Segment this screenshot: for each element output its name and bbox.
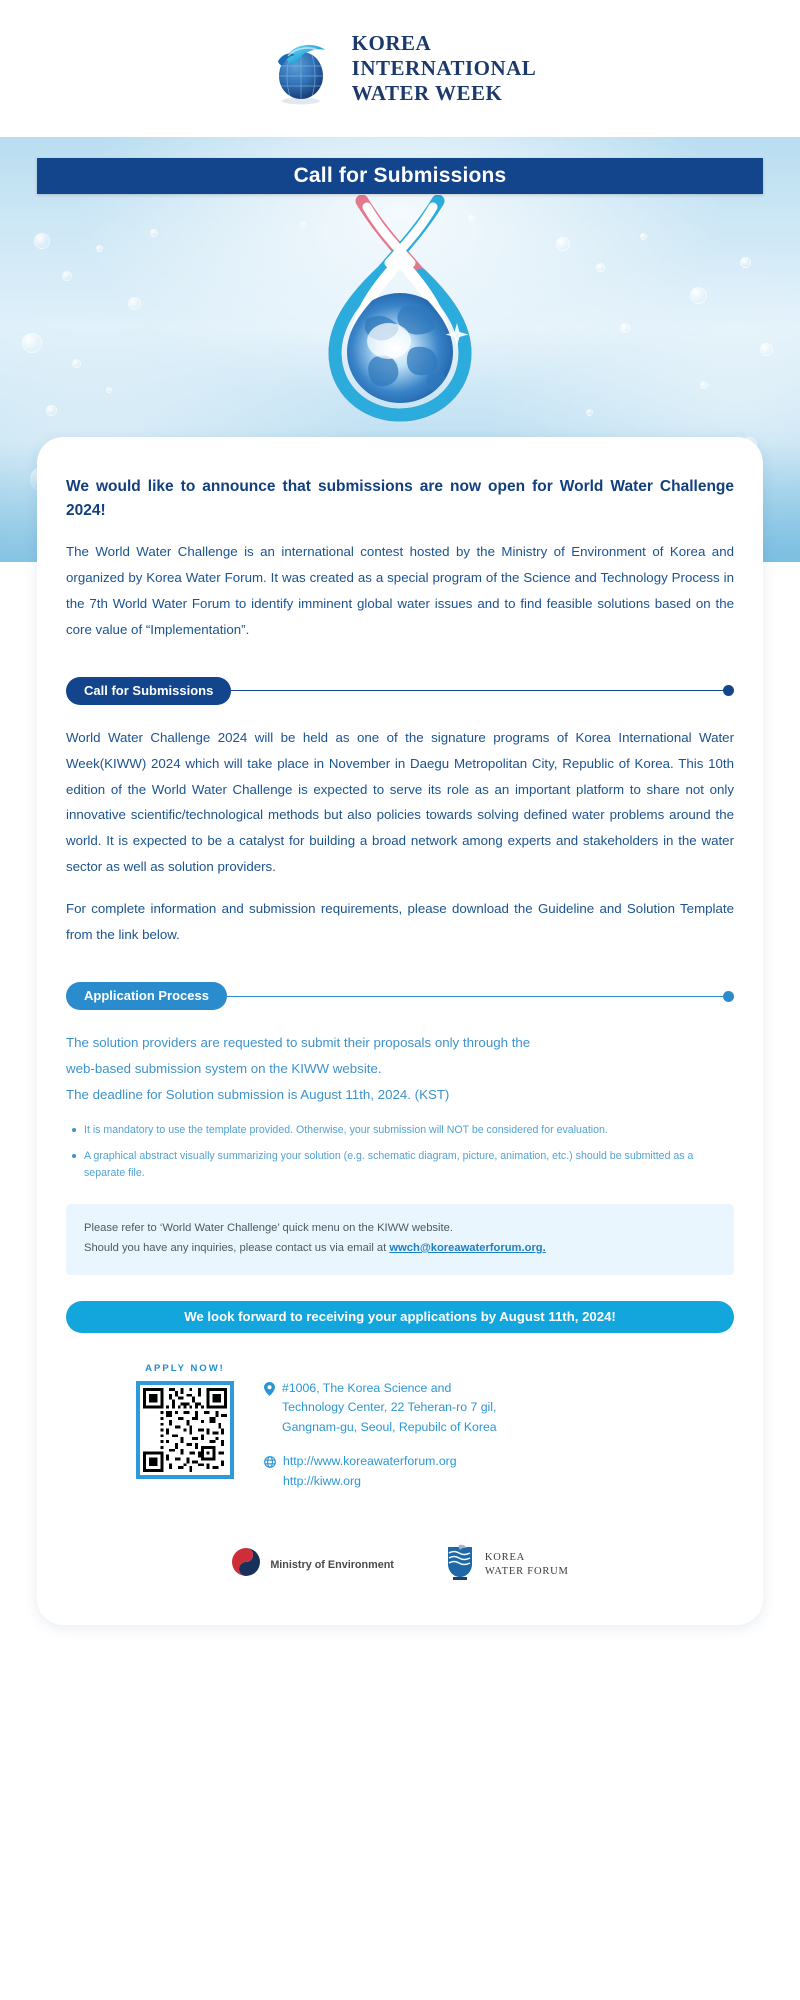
address-column: #1006, The Korea Science and Technology … xyxy=(264,1363,734,1507)
wordmark-line-2: INTERNATIONAL xyxy=(352,56,537,81)
address-line-1: #1006, The Korea Science and xyxy=(282,1379,497,1399)
map-pin-icon xyxy=(264,1379,275,1439)
contact-section: APPLY NOW! xyxy=(66,1363,734,1507)
korea-water-forum-icon xyxy=(444,1544,476,1585)
address-row: #1006, The Korea Science and Technology … xyxy=(264,1379,734,1439)
section-label-call-for-submissions: Call for Submissions xyxy=(66,677,231,705)
site-header: KOREA INTERNATIONAL WATER WEEK xyxy=(0,0,800,137)
process-line-3: The deadline for Solution submission is … xyxy=(66,1082,734,1108)
cta-banner: We look forward to receiving your applic… xyxy=(66,1301,734,1333)
list-item: It is mandatory to use the template prov… xyxy=(70,1122,734,1139)
wordmark-line-3: WATER WEEK xyxy=(352,81,537,106)
water-drop-ribbon-logo-icon xyxy=(305,195,495,430)
wordmark-line-1: KOREA xyxy=(352,31,537,56)
address-line-3: Gangnam-gu, Seoul, Repubilc of Korea xyxy=(282,1418,497,1438)
content-card: We would like to announce that submissio… xyxy=(37,437,763,1625)
apply-now-label: APPLY NOW! xyxy=(136,1363,234,1374)
intro-paragraph: The World Water Challenge is an internat… xyxy=(66,539,734,643)
notes-list: It is mandatory to use the template prov… xyxy=(70,1122,734,1182)
info-box: Please refer to ‘World Water Challenge’ … xyxy=(66,1204,734,1274)
korea-water-forum-logo: KOREA WATER FORUM xyxy=(444,1544,569,1585)
website-link-2[interactable]: http://kiww.org xyxy=(283,1472,457,1492)
call-for-submissions-banner: Call for Submissions xyxy=(37,158,763,194)
korea-water-forum-wordmark: KOREA WATER FORUM xyxy=(485,1551,569,1577)
ministry-of-environment-label: Ministry of Environment xyxy=(270,1559,394,1571)
website-link-1[interactable]: http://www.koreawaterforum.org xyxy=(283,1452,457,1472)
korea-taegeuk-icon xyxy=(231,1547,261,1582)
kwf-line-1: KOREA xyxy=(485,1551,569,1564)
qr-column: APPLY NOW! xyxy=(136,1363,234,1507)
cta-label: We look forward to receiving your applic… xyxy=(184,1309,616,1324)
process-line-2: web-based submission system on the KIWW … xyxy=(66,1056,734,1082)
footer-logos: Ministry of Environment xyxy=(66,1544,734,1591)
section-header-call-for-submissions: Call for Submissions xyxy=(66,677,734,705)
section-header-application-process: Application Process xyxy=(66,982,734,1010)
section-rule xyxy=(231,690,723,691)
list-item: A graphical abstract visually summarizin… xyxy=(70,1148,734,1182)
application-process-text: The solution providers are requested to … xyxy=(66,1030,734,1108)
banner-label: Call for Submissions xyxy=(294,164,507,188)
qr-code-frame[interactable] xyxy=(136,1381,234,1479)
website-text: http://www.koreawaterforum.org http://ki… xyxy=(283,1452,457,1492)
lead-heading: We would like to announce that submissio… xyxy=(66,475,734,523)
poster-page: KOREA INTERNATIONAL WATER WEEK xyxy=(0,0,800,2000)
info-line-1: Please refer to ‘World Water Challenge’ … xyxy=(84,1219,716,1239)
process-line-1: The solution providers are requested to … xyxy=(66,1030,734,1056)
qr-code[interactable] xyxy=(143,1388,227,1472)
info-line-2-prefix: Should you have any inquiries, please co… xyxy=(84,1242,389,1254)
section1-paragraph-1: World Water Challenge 2024 will be held … xyxy=(66,725,734,881)
globe-icon xyxy=(264,1452,276,1492)
section-end-dot xyxy=(723,991,734,1002)
address-text: #1006, The Korea Science and Technology … xyxy=(282,1379,497,1439)
address-line-2: Technology Center, 22 Teheran-ro 7 gil, xyxy=(282,1398,497,1418)
info-line-2: Should you have any inquiries, please co… xyxy=(84,1239,716,1259)
section-label-application-process: Application Process xyxy=(66,982,227,1010)
section1-paragraph-2: For complete information and submission … xyxy=(66,896,734,948)
kiww-globe-logo-icon xyxy=(264,32,338,106)
section-rule xyxy=(227,996,723,997)
website-row: http://www.koreawaterforum.org http://ki… xyxy=(264,1452,734,1492)
section-end-dot xyxy=(723,685,734,696)
contact-email-link[interactable]: wwch@koreawaterforum.org. xyxy=(389,1242,545,1254)
kwf-line-2: WATER FORUM xyxy=(485,1565,569,1578)
kiww-wordmark: KOREA INTERNATIONAL WATER WEEK xyxy=(352,31,537,105)
ministry-of-environment-logo: Ministry of Environment xyxy=(231,1547,394,1582)
